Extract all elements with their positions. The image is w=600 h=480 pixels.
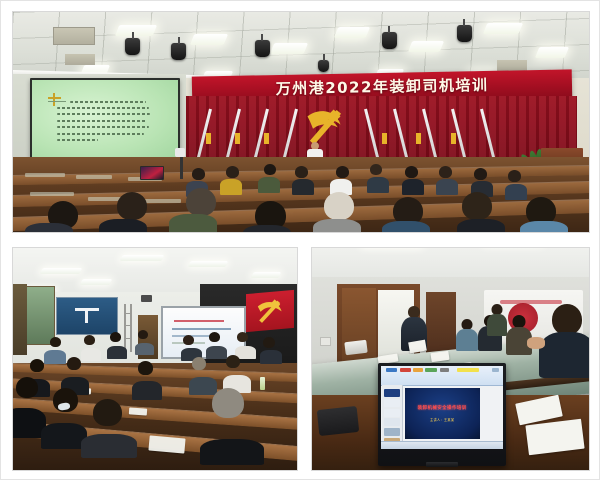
ceiling-light (535, 47, 569, 58)
foreground-head (16, 377, 38, 398)
ceiling-light (114, 25, 156, 36)
trainee-head (84, 335, 95, 345)
presentation-screen[interactable] (161, 306, 246, 359)
foreground-attendee (539, 304, 589, 374)
powerpoint-slide: 装卸机械安全操作培训 主讲人：王某某 (405, 388, 480, 439)
ceiling-ac-vent (65, 54, 95, 65)
slide-thumbnail[interactable] (384, 418, 400, 426)
toolbar-tab (440, 368, 450, 372)
flag-gold-stripe (416, 133, 421, 144)
audience-torso (436, 179, 458, 195)
powerpoint-toolbar (381, 366, 502, 385)
trainee-head (110, 332, 121, 342)
foreground-torso (382, 221, 430, 232)
desk-surface-highlight (25, 173, 65, 177)
flag-gold-stripe (382, 133, 387, 144)
screen-content-line (174, 320, 224, 322)
projector-device (316, 406, 358, 436)
audience-laptop (140, 166, 164, 180)
wall-speaker-icon (141, 295, 152, 302)
audience-torso (292, 179, 314, 195)
conference-hall-scene: 万州港2022年装卸司机培训 (13, 12, 589, 232)
trainee-head (263, 337, 275, 348)
toolbar-tab (386, 368, 397, 372)
trainee-torso (206, 346, 227, 359)
toolbar-tab (492, 368, 499, 372)
audience-head (336, 166, 349, 178)
slide-thumbnail-panel[interactable] (382, 385, 402, 446)
toolbar-tab (425, 368, 437, 372)
foreground-head (93, 399, 122, 426)
audience-head (439, 166, 452, 178)
monitor-stand (426, 462, 458, 467)
projection-screen-surface (32, 80, 178, 160)
slide-text-line (57, 126, 149, 128)
foreground-head (462, 192, 492, 220)
trainee-torso (135, 343, 154, 355)
ceiling-light (250, 272, 281, 278)
foreground-torso (25, 223, 73, 232)
ceiling-speaker-icon (382, 32, 397, 49)
toolbar-tab (457, 368, 479, 372)
slide-cross-marker-icon (48, 93, 61, 106)
ceiling-light (333, 27, 369, 38)
flag-gold-stripe (206, 133, 211, 144)
desk-surface-highlight (30, 192, 74, 196)
screen-content-line (172, 328, 230, 330)
audience-head (192, 168, 205, 180)
trainee-head (67, 357, 81, 370)
foreground-torso (99, 219, 147, 232)
ceiling-light (408, 41, 444, 52)
slide-thumbnail[interactable] (384, 409, 400, 417)
desk-surface-highlight (76, 175, 112, 179)
audience-torso (402, 179, 424, 195)
foreground-attendee-head (552, 304, 582, 335)
classroom-scene (13, 248, 297, 470)
attendee-body (456, 329, 478, 351)
foreground-torso (81, 434, 137, 458)
ceiling-speaker-icon (457, 25, 472, 42)
trainee-head (192, 357, 206, 370)
trainee-head (183, 335, 194, 345)
audience-head (295, 166, 308, 178)
ceiling-light (80, 279, 113, 285)
audience-torso (220, 179, 242, 195)
photo-classroom[interactable] (12, 247, 298, 471)
trainee-torso (107, 346, 127, 359)
foreground-torso (200, 439, 264, 465)
foreground-torso (243, 225, 291, 232)
slide-text-line (70, 101, 146, 103)
slide-subtitle: 主讲人：王某某 (430, 417, 454, 422)
foreground-torso (457, 219, 505, 232)
ceiling-light (483, 23, 523, 34)
slide-rule (48, 101, 65, 102)
toolbar-tab (400, 368, 411, 372)
foreground-head (212, 388, 244, 418)
ceiling-light (188, 261, 229, 267)
slide-text-line (57, 133, 144, 135)
attendee (456, 319, 478, 349)
attendee (487, 304, 507, 334)
slide-title: 装卸机械安全操作培训 (418, 405, 467, 411)
audience-torso (505, 184, 527, 200)
foreground-attendee-body (539, 332, 589, 378)
ceiling-light (119, 255, 164, 261)
camera-tripod (180, 157, 183, 179)
slide-text-line (57, 139, 98, 141)
slide-thumbnail[interactable] (384, 389, 400, 397)
foreground-torso (169, 214, 217, 232)
trainee-head (226, 355, 240, 368)
powerpoint-statusbar (381, 441, 502, 449)
monitor-screen: 装卸机械安全操作培训 主讲人：王某某 (381, 366, 502, 449)
audience-torso (258, 177, 280, 193)
toolbar-tab (413, 368, 423, 372)
attendee-body (487, 314, 507, 336)
desk-surface-highlight (145, 199, 181, 203)
ceiling-light (189, 34, 227, 45)
trainee-head (138, 330, 148, 339)
trainee-torso (44, 350, 66, 364)
trainee-torso (260, 350, 282, 364)
slide-thumbnail[interactable] (384, 399, 400, 407)
flag-gold-stripe (451, 133, 456, 144)
flag-gold-stripe (235, 133, 240, 144)
slide-text-line (57, 113, 150, 115)
trainee-head (138, 361, 153, 375)
foreground-torso (313, 219, 361, 232)
foreground-head (117, 192, 147, 220)
audience-head (370, 164, 382, 175)
photo-conference-hall[interactable]: 万州港2022年装卸司机培训 (12, 11, 590, 233)
trainee-torso (81, 348, 101, 361)
ceiling-light (40, 268, 83, 274)
paper-on-desk (129, 407, 147, 415)
ceiling-speaker-icon (125, 38, 140, 55)
slide-text-line (57, 107, 149, 109)
projection-screen[interactable] (30, 78, 180, 162)
foreground-head (324, 192, 354, 220)
foreground-torso (520, 221, 568, 232)
slide-thumbnail[interactable] (384, 428, 400, 436)
audience-torso (367, 177, 389, 193)
curtain-drape (13, 284, 27, 355)
trainee-head (50, 337, 61, 347)
audience-head (226, 166, 239, 178)
light-switch[interactable] (320, 337, 331, 346)
ceiling-ac-vent (53, 27, 95, 45)
photo-collage: 万州港2022年装卸司机培训 (0, 0, 600, 480)
trainee-torso (132, 381, 162, 400)
ceiling-speaker-icon (171, 43, 186, 60)
audience-head (405, 166, 418, 178)
trainee-head (209, 332, 220, 342)
meeting-room-scene: 装卸机械安全操作培训 主讲人：王某某 (312, 248, 589, 470)
audience-head (264, 164, 276, 175)
audience-head (474, 168, 487, 180)
clasped-hands (527, 337, 545, 349)
camera-head (175, 148, 185, 157)
trainee-torso (189, 377, 217, 395)
t-junction-icon (75, 308, 99, 311)
trainee-head (30, 359, 44, 372)
ceiling-speaker-icon (255, 40, 270, 57)
laptop-monitor[interactable]: 装卸机械安全操作培训 主讲人：王某某 (378, 363, 505, 465)
photo-meeting-room[interactable]: 装卸机械安全操作培训 主讲人：王某某 (311, 247, 590, 471)
traffic-sign-board (56, 297, 118, 335)
slide-text-line (57, 120, 147, 122)
foreground-head (186, 188, 216, 216)
step-ladder (124, 304, 132, 353)
ceiling-light (270, 43, 308, 54)
paper-on-desk (149, 435, 186, 453)
water-bottle (260, 377, 265, 390)
party-flag (246, 290, 294, 332)
flag-gold-stripe (264, 133, 269, 144)
